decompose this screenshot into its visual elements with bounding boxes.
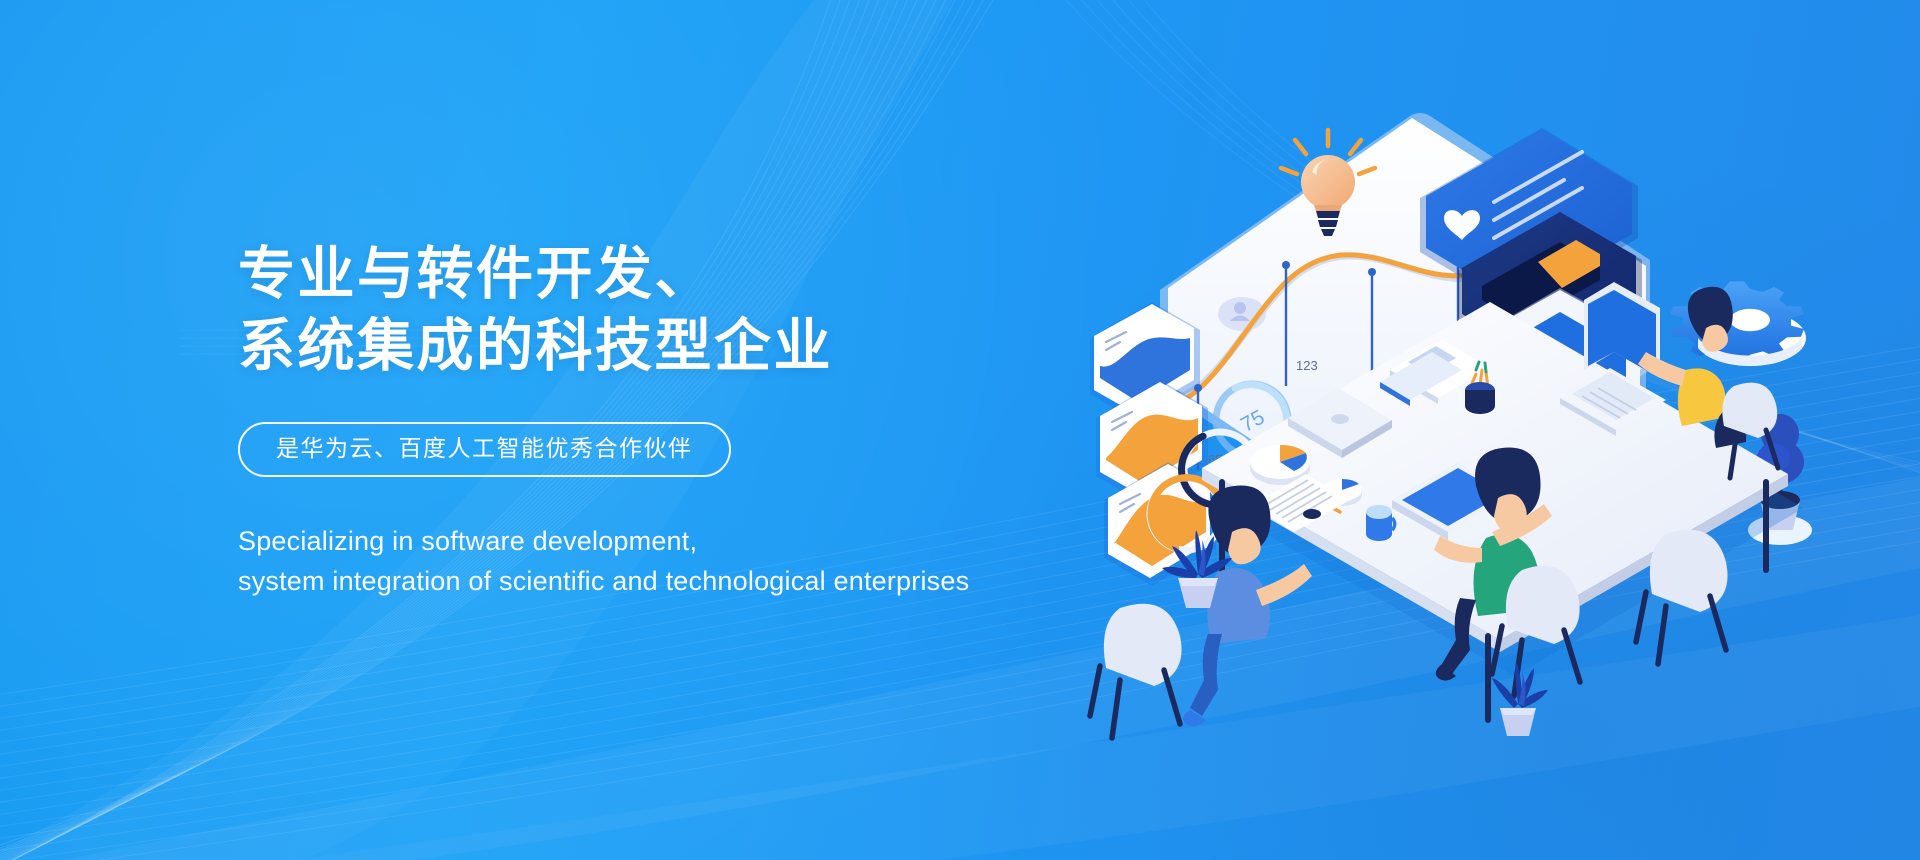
hero-banner: 专业与转件开发、 系统集成的科技型企业 是华为云、百度人工智能优秀合作伙伴 Sp… [0,0,1920,860]
partner-badge: 是华为云、百度人工智能优秀合作伙伴 [238,422,731,477]
headline-line-2: 系统集成的科技型企业 [238,310,1158,382]
isometric-team-dashboard-illustration: 65 123 97 81 [1090,70,1890,770]
headline-line-1: 专业与转件开发、 [238,242,714,306]
chart-label-1: 123 [1296,358,1318,373]
badge-row: 是华为云、百度人工智能优秀合作伙伴 [238,422,1158,477]
subtitle-line-2: system integration of scientific and tec… [238,561,1158,601]
hero-copy: 专业与转件开发、 系统集成的科技型企业 是华为云、百度人工智能优秀合作伙伴 Sp… [238,238,1158,601]
page-title: 专业与转件开发、 系统集成的科技型企业 [238,238,1158,382]
hero-subtitle: Specializing in software development, sy… [238,521,1158,601]
coffee-mug [1366,505,1395,541]
subtitle-line-1: Specializing in software development, [238,521,1158,561]
chair [1090,604,1182,738]
gear-icon [1670,281,1806,366]
